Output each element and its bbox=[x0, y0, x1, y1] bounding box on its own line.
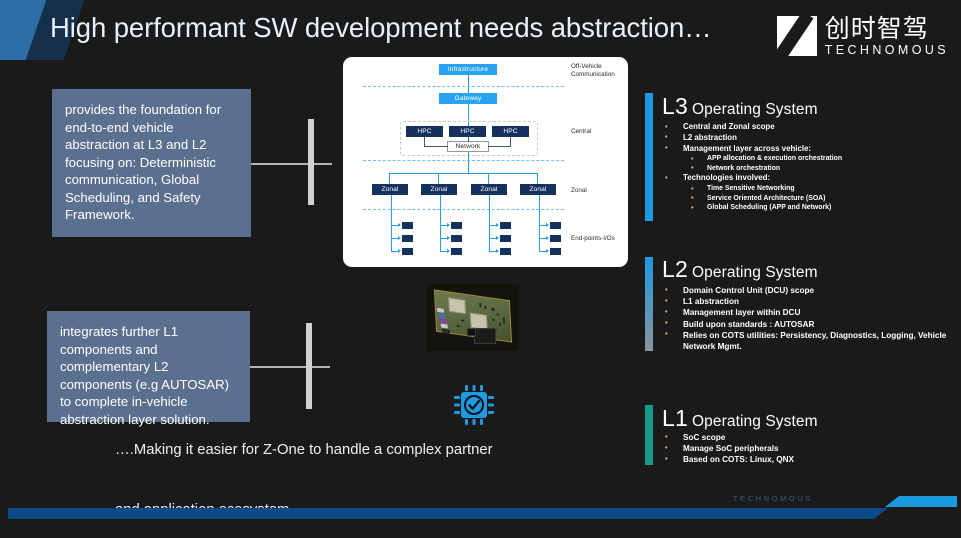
level-bullets-l2: Domain Control Unit (DCU) scope L1 abstr… bbox=[657, 285, 947, 352]
chip-check-icon bbox=[452, 383, 496, 427]
diagram-node-infrastructure: Infrastructure bbox=[439, 64, 497, 75]
callout-box-l1: integrates further L1 components and com… bbox=[47, 311, 250, 422]
level-bullets-l1: SoC scope Manage SoC peripherals Based o… bbox=[657, 432, 947, 466]
connector-line-top bbox=[251, 163, 332, 165]
diagram-node-zonal-4: Zonal bbox=[520, 184, 556, 195]
footer-bar bbox=[8, 508, 888, 519]
level-bullets-l3: Central and Zonal scope L2 abstraction M… bbox=[657, 122, 957, 213]
diagram-label-off-vehicle: Off-Vehicle Communication bbox=[571, 63, 619, 79]
pcb-component-9 bbox=[457, 325, 460, 327]
bullet-item: Time Sensitive Networking bbox=[657, 184, 957, 193]
diagram-link-hpc1-net bbox=[424, 146, 448, 147]
bullet-item: Based on COTS: Linux, QNX bbox=[657, 454, 947, 465]
level-title-l2: Operating System bbox=[692, 264, 818, 281]
bullet-item: L1 abstraction bbox=[657, 296, 947, 307]
diagram-arrow-4-2 bbox=[546, 236, 549, 240]
diagram-node-hpc-3: HPC bbox=[492, 126, 529, 137]
diagram-label-central: Central bbox=[571, 128, 591, 136]
bullet-item: L2 abstraction bbox=[657, 133, 957, 144]
logo-chinese-name: 创时智驾 bbox=[825, 16, 949, 42]
diagram-io-1-2 bbox=[402, 235, 413, 242]
pcb-component-8 bbox=[461, 319, 464, 321]
diagram-arrow-1-2 bbox=[398, 236, 401, 240]
pcb-component-1 bbox=[491, 308, 494, 311]
level-heading-l1: L1Operating System bbox=[662, 405, 818, 432]
pcb-connector bbox=[474, 328, 496, 344]
brand-logo: 创时智驾 TECHNOMOUS bbox=[777, 16, 949, 57]
diagram-divider-2 bbox=[363, 160, 564, 161]
diagram-io-3-3 bbox=[500, 248, 511, 255]
diagram-arrow-2-1 bbox=[447, 223, 450, 227]
diagram-node-network: Network bbox=[447, 141, 489, 152]
diagram-io-3-2 bbox=[500, 235, 511, 242]
bullet-item: Relies on COTS utilities: Persistency, D… bbox=[657, 330, 947, 352]
pcb-chip-1 bbox=[448, 297, 466, 314]
diagram-arrow-2-3 bbox=[447, 249, 450, 253]
pcb-component-10 bbox=[503, 317, 505, 323]
diagram-node-gateway: Gateway bbox=[439, 93, 497, 104]
diagram-arrow-1-1 bbox=[398, 223, 401, 227]
connector-bracket-top bbox=[308, 119, 314, 205]
footer-brand-label: TECHNOMOUS bbox=[733, 494, 813, 503]
bullet-item: Build upon standards : AUTOSAR bbox=[657, 319, 947, 330]
diagram-bus-zonal bbox=[389, 173, 538, 174]
bullet-item: Management layer across vehicle: bbox=[657, 144, 957, 155]
diagram-arrow-1-3 bbox=[398, 249, 401, 253]
diagram-link-hpc2-net bbox=[468, 137, 469, 142]
level-code-l1: L1 bbox=[662, 405, 688, 431]
level-accent-bar-l3 bbox=[645, 93, 653, 221]
level-heading-l2: L2Operating System bbox=[662, 256, 818, 283]
connector-line-bottom bbox=[250, 366, 330, 368]
diagram-node-zonal-1: Zonal bbox=[372, 184, 408, 195]
diagram-io-2-3 bbox=[451, 248, 462, 255]
diagram-io-3-1 bbox=[500, 222, 511, 229]
pcb-component-3 bbox=[492, 319, 495, 321]
diagram-io-1-1 bbox=[402, 222, 413, 229]
bullet-item: Domain Control Unit (DCU) scope bbox=[657, 285, 947, 296]
bullet-item: Network orchestration bbox=[657, 164, 957, 173]
bullet-item: Service Oriented Architecture (SOA) bbox=[657, 194, 957, 203]
diagram-label-endpoints: End-points-I/Os bbox=[571, 235, 615, 243]
level-title-l3: Operating System bbox=[692, 101, 818, 118]
diagram-node-hpc-2: HPC bbox=[449, 126, 486, 137]
diagram-arrow-4-3 bbox=[546, 249, 549, 253]
diagram-trunk-2 bbox=[440, 195, 441, 252]
bullet-item: APP allocation & execution orchestration bbox=[657, 154, 957, 163]
circuit-board-photo bbox=[427, 284, 519, 351]
diagram-trunk-3 bbox=[489, 195, 490, 252]
bullet-item: Global Scheduling (APP and Network) bbox=[657, 203, 957, 212]
diagram-arrow-4-1 bbox=[546, 223, 549, 227]
connector-bracket-bottom bbox=[306, 323, 312, 409]
pcb-component-4 bbox=[499, 323, 501, 326]
footer-accent-parallelogram bbox=[885, 496, 957, 507]
diagram-divider-1 bbox=[363, 86, 564, 87]
level-title-l1: Operating System bbox=[692, 413, 818, 430]
pcb-component-7 bbox=[484, 306, 486, 309]
diagram-arrow-3-2 bbox=[496, 236, 499, 240]
architecture-diagram: Infrastructure Gateway HPC HPC HPC Netwo… bbox=[343, 57, 628, 267]
pcb-component-2 bbox=[497, 313, 499, 315]
diagram-io-4-1 bbox=[550, 222, 561, 229]
tagline-line-1: ….Making it easier for Z-One to handle a… bbox=[115, 443, 493, 458]
diagram-io-2-1 bbox=[451, 222, 462, 229]
logo-square-slash-icon bbox=[777, 16, 817, 56]
pcb-connector-tab bbox=[467, 328, 476, 336]
diagram-io-1-3 bbox=[402, 248, 413, 255]
level-code-l2: L2 bbox=[662, 256, 688, 282]
slide-canvas: High performant SW development needs abs… bbox=[0, 0, 961, 538]
diagram-trunk-1 bbox=[391, 195, 392, 252]
bullet-item: Manage SoC peripherals bbox=[657, 443, 947, 454]
diagram-link-central-zonal bbox=[468, 152, 469, 174]
callout-box-l3l2: provides the foundation for end-to-end v… bbox=[52, 89, 251, 237]
bullet-item: Technologies involved: bbox=[657, 173, 957, 184]
diagram-label-zonal: Zonal bbox=[571, 187, 587, 195]
diagram-io-4-3 bbox=[550, 248, 561, 255]
level-heading-l3: L3Operating System bbox=[662, 93, 818, 120]
diagram-io-2-2 bbox=[451, 235, 462, 242]
diagram-arrow-3-1 bbox=[496, 223, 499, 227]
diagram-io-4-2 bbox=[550, 235, 561, 242]
level-accent-bar-l2 bbox=[645, 257, 653, 351]
diagram-link-hpc3-net bbox=[488, 146, 511, 147]
logo-english-name: TECHNOMOUS bbox=[825, 43, 949, 57]
diagram-node-zonal-2: Zonal bbox=[421, 184, 457, 195]
logo-text-block: 创时智驾 TECHNOMOUS bbox=[825, 16, 949, 57]
bullet-item: Central and Zonal scope bbox=[657, 122, 957, 133]
level-code-l3: L3 bbox=[662, 93, 688, 119]
level-accent-bar-l1 bbox=[645, 405, 653, 465]
pcb-port-5 bbox=[442, 329, 450, 334]
diagram-divider-3 bbox=[363, 209, 564, 210]
bullet-item: Management layer within DCU bbox=[657, 307, 947, 318]
diagram-trunk-4 bbox=[539, 195, 540, 252]
diagram-arrow-3-3 bbox=[496, 249, 499, 253]
bullet-item: SoC scope bbox=[657, 432, 947, 443]
diagram-arrow-2-2 bbox=[447, 236, 450, 240]
diagram-node-hpc-1: HPC bbox=[406, 126, 443, 137]
pcb-component-6 bbox=[479, 303, 481, 307]
page-title: High performant SW development needs abs… bbox=[50, 12, 712, 44]
diagram-node-zonal-3: Zonal bbox=[471, 184, 507, 195]
